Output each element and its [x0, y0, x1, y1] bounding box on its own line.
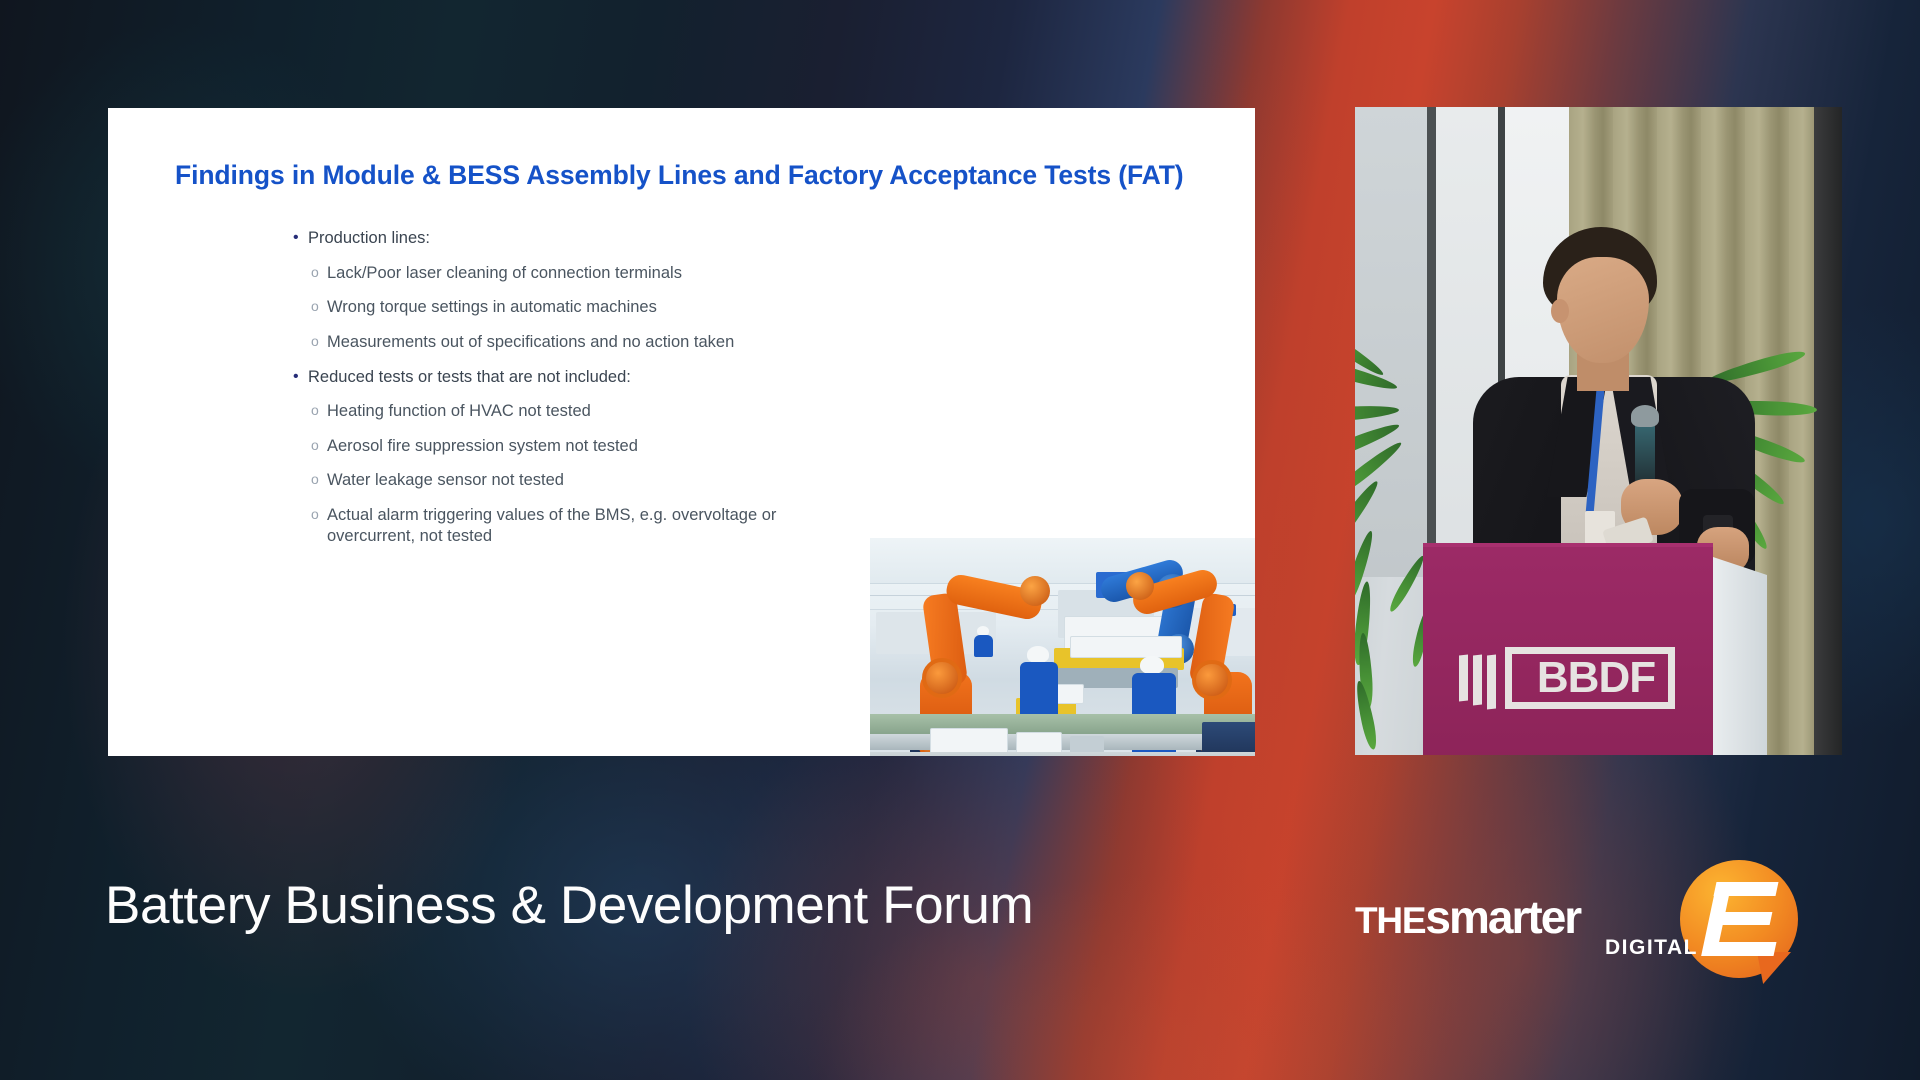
bullet-item: o Lack/Poor laser cleaning of connection… — [311, 263, 933, 284]
bullet-text: Reduced tests or tests that are not incl… — [308, 367, 631, 388]
factory-assembly-line-image — [870, 538, 1255, 756]
bullet-item: o Heating function of HVAC not tested — [311, 401, 933, 422]
bullet-marker: • — [293, 367, 308, 388]
event-title: Battery Business & Development Forum — [105, 875, 1033, 936]
slide-bullet-list: • Production lines: o Lack/Poor laser cl… — [293, 228, 933, 546]
the-smarter-e-digital-logo: THEsmarter DIGITAL — [1355, 860, 1825, 980]
bullet-item: • Reduced tests or tests that are not in… — [293, 367, 933, 388]
bbdf-logo-text: BBDF — [1517, 653, 1675, 703]
bullet-text: Aerosol fire suppression system not test… — [327, 436, 638, 457]
bullet-item: • Production lines: — [293, 228, 933, 249]
bullet-marker: o — [311, 263, 327, 284]
logo-digital-text: DIGITAL — [1605, 936, 1698, 960]
bullet-text: Lack/Poor laser cleaning of connection t… — [327, 263, 682, 284]
e-circle-tail-icon — [1757, 952, 1791, 984]
bullet-item: o Measurements out of specifications and… — [311, 332, 933, 353]
bullet-item: o Water leakage sensor not tested — [311, 470, 933, 491]
bullet-marker: o — [311, 505, 327, 546]
slide-title: Findings in Module & BESS Assembly Lines… — [175, 160, 1205, 191]
bullet-marker: • — [293, 228, 308, 249]
speaker-video-feed[interactable]: BBDF — [1355, 107, 1842, 755]
bullet-text: Actual alarm triggering values of the BM… — [327, 505, 847, 546]
face — [1557, 257, 1649, 363]
bullet-item: o Aerosol fire suppression system not te… — [311, 436, 933, 457]
podium-side-panel — [1713, 557, 1767, 755]
ear — [1551, 299, 1569, 323]
logo-the-text: THE — [1355, 900, 1425, 941]
bullet-item: o Actual alarm triggering values of the … — [311, 505, 933, 546]
bullet-marker: o — [311, 470, 327, 491]
microphone-head — [1631, 405, 1659, 427]
bullet-marker: o — [311, 436, 327, 457]
bullet-text: Measurements out of specifications and n… — [327, 332, 734, 353]
letter-e-mark-icon — [1707, 882, 1781, 956]
bullet-text: Heating function of HVAC not tested — [327, 401, 591, 422]
bullet-marker: o — [311, 332, 327, 353]
bbdf-logo: BBDF — [1459, 647, 1675, 709]
presentation-slide: Findings in Module & BESS Assembly Lines… — [108, 108, 1255, 756]
bullet-text: Water leakage sensor not tested — [327, 470, 564, 491]
bullet-text: Production lines: — [308, 228, 430, 249]
logo-wordmark: THEsmarter — [1355, 890, 1580, 944]
bullet-text: Wrong torque settings in automatic machi… — [327, 297, 657, 318]
logo-smarter-text: smarter — [1425, 891, 1580, 943]
bullet-item: o Wrong torque settings in automatic mac… — [311, 297, 933, 318]
bullet-marker: o — [311, 297, 327, 318]
bullet-marker: o — [311, 401, 327, 422]
